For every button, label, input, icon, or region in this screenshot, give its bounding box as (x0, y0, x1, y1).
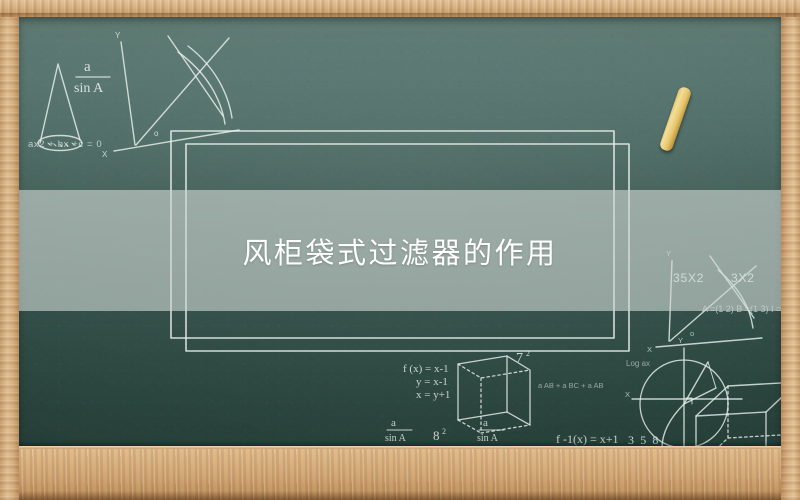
frame-left-post (0, 0, 19, 500)
ledge-lip (0, 446, 800, 449)
chalk-ledge (0, 446, 800, 500)
page-title: 风柜袋式过滤器的作用 (242, 230, 557, 272)
frame-top-bevel (0, 13, 800, 18)
frame-right-post (781, 0, 800, 500)
title-overlay-band: 风柜袋式过滤器的作用 (0, 190, 800, 311)
screenshot-stage: a sin A Y X o (0, 0, 800, 500)
ledge-shadow (0, 491, 800, 500)
